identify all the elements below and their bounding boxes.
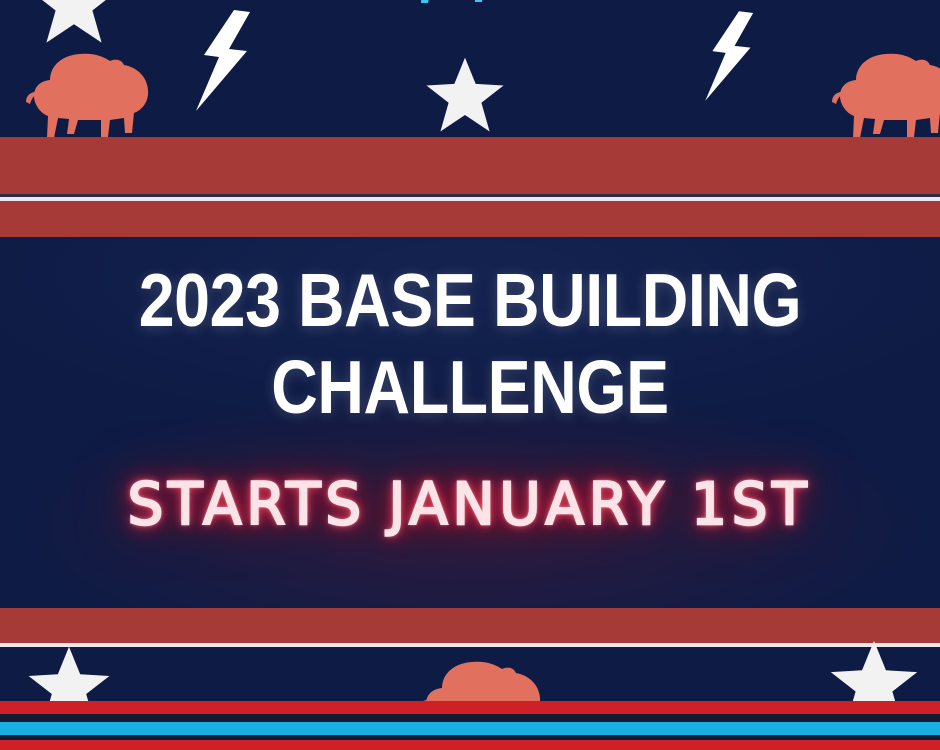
headline-line-1: 2023 BASE BUILDING: [66, 265, 874, 336]
bottom-stripe-cyan: [0, 722, 940, 735]
lightning-top-left-icon: [190, 8, 260, 113]
buffalo-top-right-icon: [812, 34, 940, 139]
bottom-stripe-dark-upper: [0, 714, 940, 722]
bottom-stripe-red-lower: [0, 740, 940, 750]
neon-subtitle-text: STARTS JANUARY 1ST: [128, 470, 812, 538]
top-hairline-white: [0, 197, 940, 201]
neon-subtitle-line: STARTS JANUARY 1ST: [0, 470, 940, 538]
headline-block: 2023 BASE BUILDING CHALLENGE: [0, 265, 940, 424]
bottom-scene-band: [0, 647, 940, 703]
top-red-band: [0, 137, 940, 237]
buffalo-cyan-top-center-icon: [400, 0, 530, 26]
bottom-red-band: [0, 608, 940, 643]
bottom-stripe-red-upper: [0, 701, 940, 714]
lightning-top-right-icon: [700, 6, 762, 106]
headline-line-2: CHALLENGE: [66, 352, 874, 423]
top-scene-band: [0, 0, 940, 137]
poster-canvas: 2023 BASE BUILDING CHALLENGE STARTS JANU…: [0, 0, 940, 750]
buffalo-top-left-icon: [6, 34, 156, 139]
star-top-center-icon: [424, 56, 506, 138]
